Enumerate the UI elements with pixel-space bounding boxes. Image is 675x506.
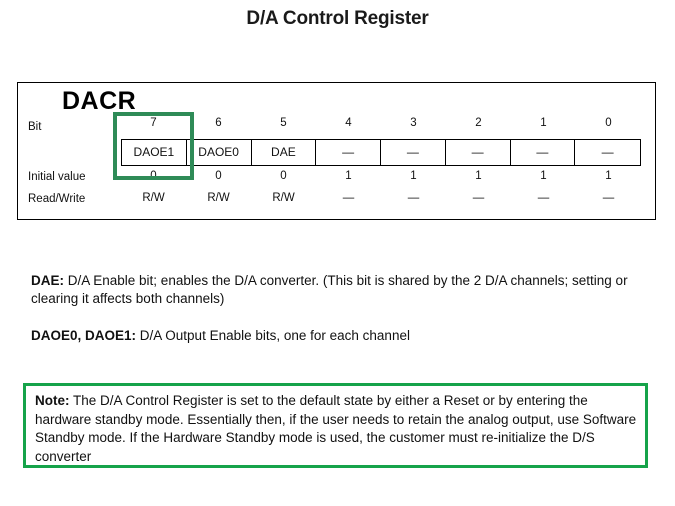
row-label-bit: Bit (28, 121, 41, 133)
read-write-cell: — (381, 191, 446, 206)
note-body: The D/A Control Register is set to the d… (35, 393, 636, 464)
bit-number-cell: 1 (511, 116, 576, 130)
note-box: Note: The D/A Control Register is set to… (23, 383, 648, 468)
read-write-cell: — (511, 191, 576, 206)
read-write-cell: R/W (186, 191, 251, 206)
description-dae: DAE: D/A Enable bit; enables the D/A con… (31, 272, 643, 308)
initial-value-cell: 1 (576, 169, 641, 184)
bit-number-cell: 4 (316, 116, 381, 130)
bit-number-cell: 6 (186, 116, 251, 130)
initial-value-cell: 1 (316, 169, 381, 184)
description-dae-term: DAE: (31, 273, 64, 288)
note-text: Note: The D/A Control Register is set to… (35, 392, 641, 466)
description-daoe-term: DAOE0, DAOE1: (31, 328, 136, 343)
bit-number-cell: 7 (121, 116, 186, 130)
description-daoe: DAOE0, DAOE1: D/A Output Enable bits, on… (31, 327, 643, 345)
row-label-read-write: Read/Write (28, 193, 85, 205)
bit-number-cell: 3 (381, 116, 446, 130)
note-label: Note: (35, 393, 70, 408)
bit-field-row: DAOE1 DAOE0 DAE — — — — — (121, 139, 641, 166)
bit-number-cell: 0 (576, 116, 641, 130)
bit-number-cell: 5 (251, 116, 316, 130)
bit-field-cell: DAE (252, 140, 317, 165)
initial-value-cell: 0 (121, 169, 186, 184)
read-write-cell: — (316, 191, 381, 206)
initial-value-cell: 0 (186, 169, 251, 184)
bit-field-cell: — (316, 140, 381, 165)
bit-field-cell: DAOE1 (122, 140, 187, 165)
page-title: D/A Control Register (0, 8, 675, 30)
bit-field-cell: — (575, 140, 640, 165)
read-write-cell: R/W (251, 191, 316, 206)
initial-value-cell: 1 (511, 169, 576, 184)
description-dae-text: D/A Enable bit; enables the D/A converte… (31, 273, 628, 306)
initial-value-cell: 0 (251, 169, 316, 184)
read-write-row: R/W R/W R/W — — — — — (121, 191, 641, 206)
initial-value-cell: 1 (381, 169, 446, 184)
bit-field-cell: — (381, 140, 446, 165)
bit-field-cell: — (511, 140, 576, 165)
bit-field-cell: — (446, 140, 511, 165)
read-write-cell: — (576, 191, 641, 206)
description-daoe-text: D/A Output Enable bits, one for each cha… (136, 328, 410, 343)
initial-value-cell: 1 (446, 169, 511, 184)
read-write-cell: R/W (121, 191, 186, 206)
initial-value-row: 0 0 0 1 1 1 1 1 (121, 169, 641, 184)
register-name-label: DACR (62, 87, 136, 116)
row-label-initial-value: Initial value (28, 171, 86, 183)
read-write-cell: — (446, 191, 511, 206)
bit-field-cell: DAOE0 (187, 140, 252, 165)
bit-number-cell: 2 (446, 116, 511, 130)
bit-number-row: 7 6 5 4 3 2 1 0 (121, 116, 641, 130)
register-diagram-box: DACR Bit Initial value Read/Write 7 6 5 … (17, 82, 656, 220)
